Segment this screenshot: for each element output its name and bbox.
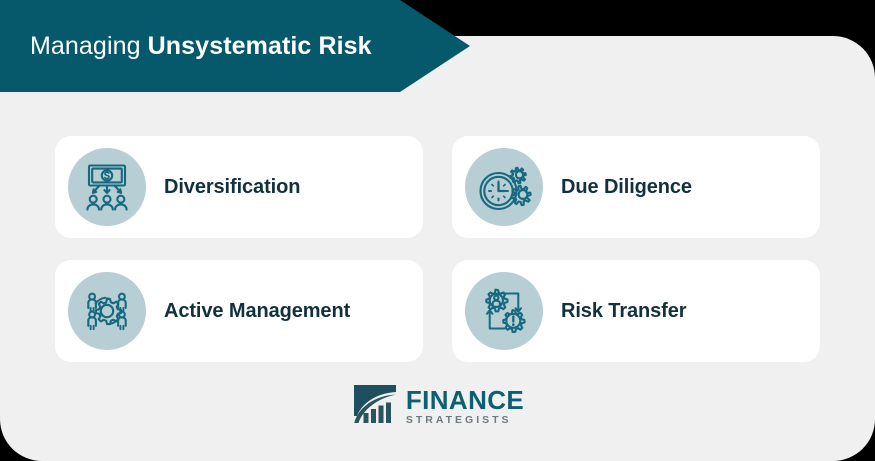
brand-logo-primary: FINANCE xyxy=(406,388,524,413)
finance-strategists-mark-icon xyxy=(351,382,399,431)
brand-logo-secondary: STRATEGISTS xyxy=(406,414,524,426)
item-card-diversification[interactable]: Diversification xyxy=(55,136,423,238)
gear-with-people-icon xyxy=(79,283,135,339)
items-grid: Diversification xyxy=(55,136,820,362)
item-label-due-diligence: Due Diligence xyxy=(561,176,692,199)
page-title-bold: Unsystematic Risk xyxy=(148,32,372,60)
item-card-risk-transfer[interactable]: Risk Transfer xyxy=(452,260,820,362)
header-ribbon: Managing Unsystematic Risk xyxy=(0,0,470,92)
brand-logo-text: FINANCE STRATEGISTS xyxy=(406,388,524,426)
item-label-diversification: Diversification xyxy=(164,176,300,199)
banknote-arrows-to-people-icon xyxy=(79,159,135,215)
icon-circle-due-diligence xyxy=(465,148,543,226)
icon-circle-diversification xyxy=(68,148,146,226)
item-card-due-diligence[interactable]: Due Diligence xyxy=(452,136,820,238)
item-label-active-management: Active Management xyxy=(164,300,350,323)
brand-logo: FINANCE STRATEGISTS xyxy=(0,382,875,431)
item-card-active-management[interactable]: Active Management xyxy=(55,260,423,362)
clock-gears-icon xyxy=(476,159,532,215)
page-title-regular: Managing xyxy=(30,32,148,60)
icon-circle-active-management xyxy=(68,272,146,350)
gears-transfer-person-alert-icon xyxy=(476,283,532,339)
page-title: Managing Unsystematic Risk xyxy=(0,34,372,59)
icon-circle-risk-transfer xyxy=(465,272,543,350)
infographic-root: Managing Unsystematic Risk xyxy=(0,0,875,461)
item-label-risk-transfer: Risk Transfer xyxy=(561,300,686,323)
